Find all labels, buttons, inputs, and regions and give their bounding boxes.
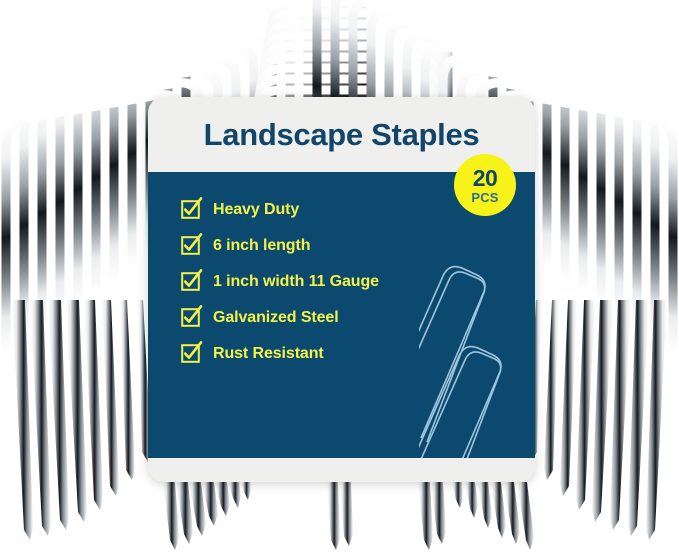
product-title: Landscape Staples: [204, 119, 480, 150]
staple-legs-center-right: [452, 482, 534, 550]
checkbox-checked-icon: [181, 236, 200, 255]
feature-label: Heavy Duty: [213, 201, 299, 219]
badge-unit: PCS: [471, 191, 498, 204]
checkbox-checked-icon: [181, 272, 200, 291]
checkbox-checked-icon: [181, 308, 200, 327]
card-footer: [148, 458, 535, 482]
feature-item: Heavy Duty: [181, 200, 379, 219]
checkbox-checked-icon: [181, 200, 200, 219]
badge-count: 20: [473, 167, 498, 190]
staple-legs-center: [327, 482, 446, 550]
feature-label: 1 inch width 11 Gauge: [213, 273, 379, 291]
checkbox-checked-icon: [181, 344, 200, 363]
staple-outline-icon: [419, 256, 535, 458]
staple-legs-right: [528, 300, 667, 540]
feature-item: 6 inch length: [181, 236, 379, 255]
feature-item: Rust Resistant: [181, 344, 379, 363]
product-image: Landscape Staples: [0, 0, 679, 556]
staple-legs-center-left: [163, 482, 251, 550]
feature-item: 1 inch width 11 Gauge: [181, 272, 379, 291]
staple-legs-left: [12, 300, 151, 540]
feature-list: Heavy Duty 6 inch length: [181, 200, 379, 363]
feature-label: Galvanized Steel: [213, 309, 339, 327]
feature-label: 6 inch length: [213, 237, 310, 255]
feature-item: Galvanized Steel: [181, 308, 379, 327]
quantity-badge: 20 PCS: [454, 154, 516, 216]
feature-label: Rust Resistant: [213, 345, 324, 363]
